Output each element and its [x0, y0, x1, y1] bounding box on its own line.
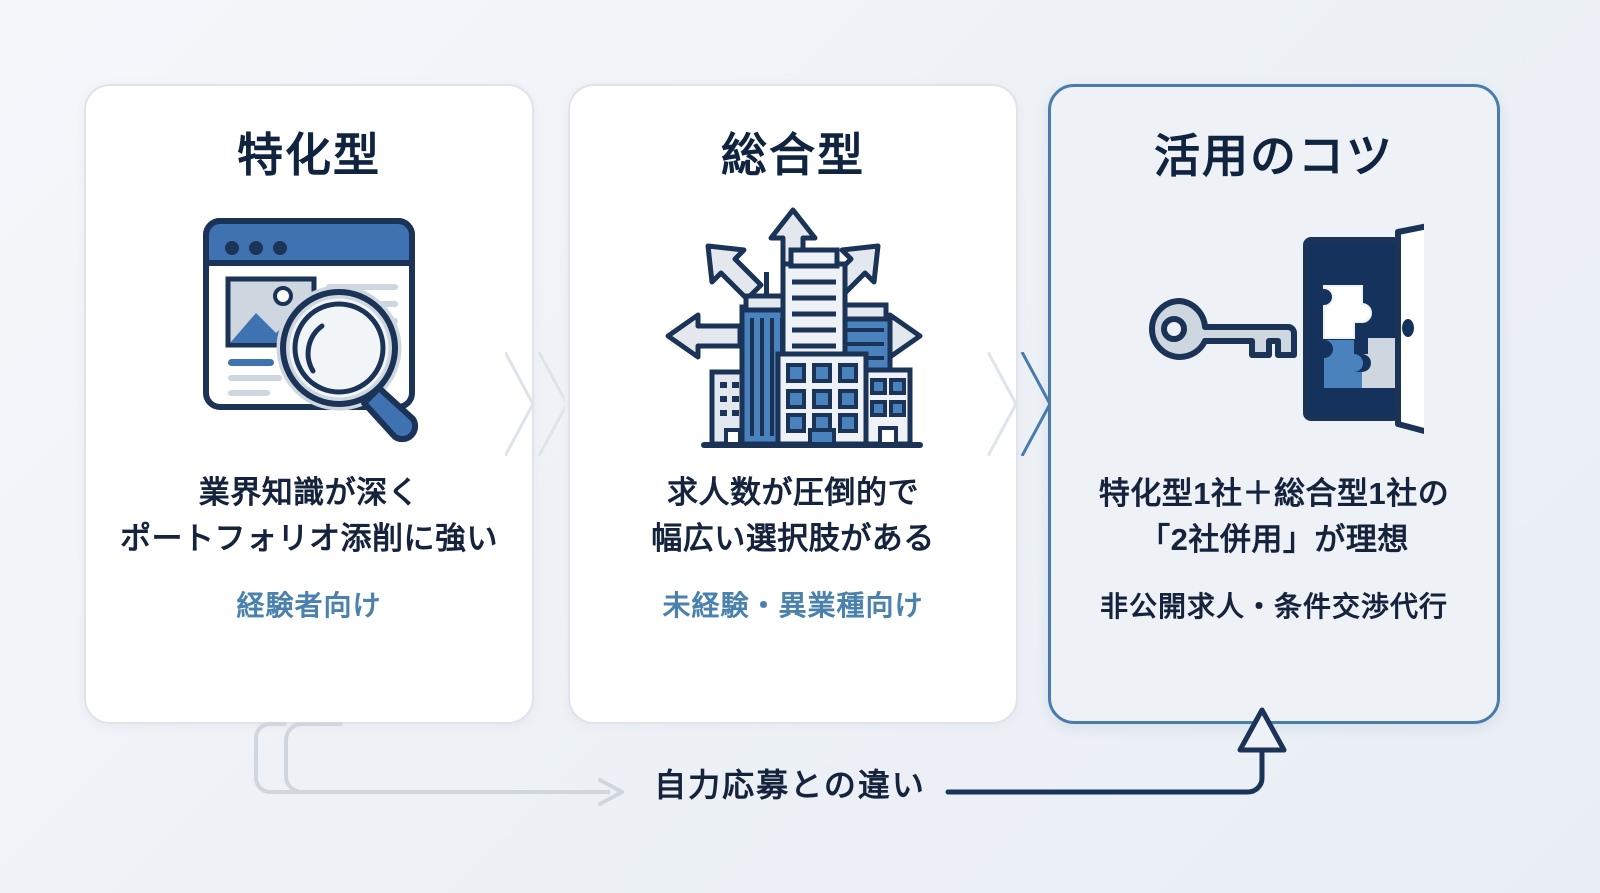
key-door-puzzle-icon [1124, 203, 1424, 453]
card-general[interactable]: 総合型 [568, 84, 1018, 724]
card-tips[interactable]: 活用のコツ 特化型1社＋総合型1社の 「2社併用」が理想 [1048, 84, 1500, 724]
card-title: 特化型 [237, 132, 381, 178]
card-description: 特化型1社＋総合型1社の 「2社併用」が理想 [1099, 471, 1449, 563]
browser-portfolio-magnifier-icon [184, 202, 434, 452]
card-specialized[interactable]: 特化型 [84, 84, 534, 724]
flow-label: 自力応募との違い [640, 760, 940, 806]
card-title: 総合型 [721, 132, 865, 178]
card-description: 業界知識が深く ポートフォリオ添削に強い [120, 470, 498, 562]
card-subtitle: 未経験・異業種向け [662, 588, 923, 624]
card-title: 活用のコツ [1154, 133, 1394, 179]
card-subtitle: 非公開求人・条件交渉代行 [1100, 589, 1448, 625]
card-subtitle: 経験者向け [236, 588, 381, 624]
infographic-canvas: 特化型 [0, 0, 1600, 893]
cityscape-arrows-icon [648, 202, 938, 452]
card-description: 求人数が圧倒的で 幅広い選択肢がある [651, 470, 935, 562]
gray-arrow-right [256, 724, 622, 804]
